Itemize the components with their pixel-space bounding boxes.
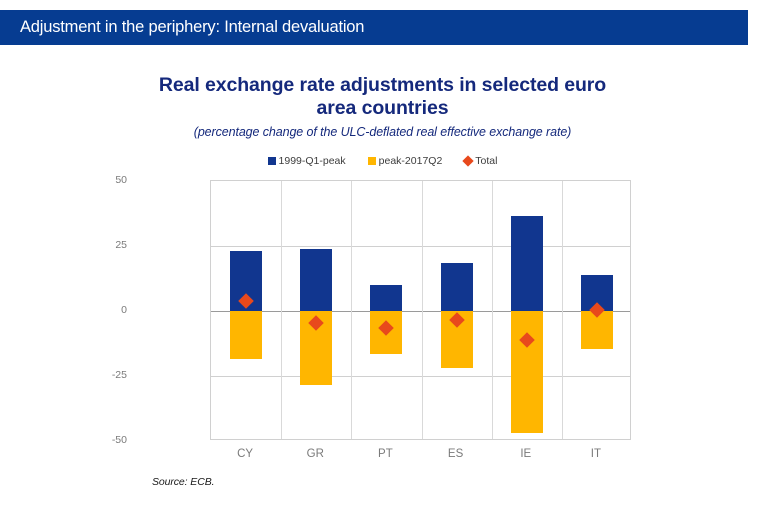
gridline-horizontal <box>211 376 630 377</box>
bar-segment-negative <box>230 311 262 359</box>
gridline-vertical <box>351 181 352 439</box>
plot-area <box>210 180 631 440</box>
y-axis-tick-label: -25 <box>87 369 127 381</box>
y-axis-tick-label: -50 <box>87 434 127 446</box>
y-axis-tick-label: 0 <box>87 304 127 316</box>
bar-segment-positive <box>370 285 402 311</box>
gridline-vertical <box>281 181 282 439</box>
x-axis-tick-label: PT <box>378 448 393 460</box>
bar-segment-positive <box>441 263 473 311</box>
y-axis-tick-label: 50 <box>87 174 127 186</box>
bar-segment-negative <box>511 311 543 433</box>
chart-plot-wrapper: 50250-25-50CYGRPTESIEIT <box>0 0 765 520</box>
x-axis-tick-label: IT <box>591 448 601 460</box>
gridline-horizontal <box>211 246 630 247</box>
source-note: Source: ECB. <box>152 476 214 488</box>
y-axis-tick-label: 25 <box>87 239 127 251</box>
bar-segment-positive <box>300 249 332 311</box>
gridline-vertical <box>422 181 423 439</box>
x-axis-tick-label: CY <box>237 448 253 460</box>
x-axis-tick-label: IE <box>520 448 531 460</box>
gridline-vertical <box>492 181 493 439</box>
x-axis-tick-label: GR <box>307 448 324 460</box>
gridline-horizontal <box>211 311 630 312</box>
bar-segment-positive <box>511 216 543 311</box>
x-axis-tick-label: ES <box>448 448 463 460</box>
gridline-vertical <box>562 181 563 439</box>
